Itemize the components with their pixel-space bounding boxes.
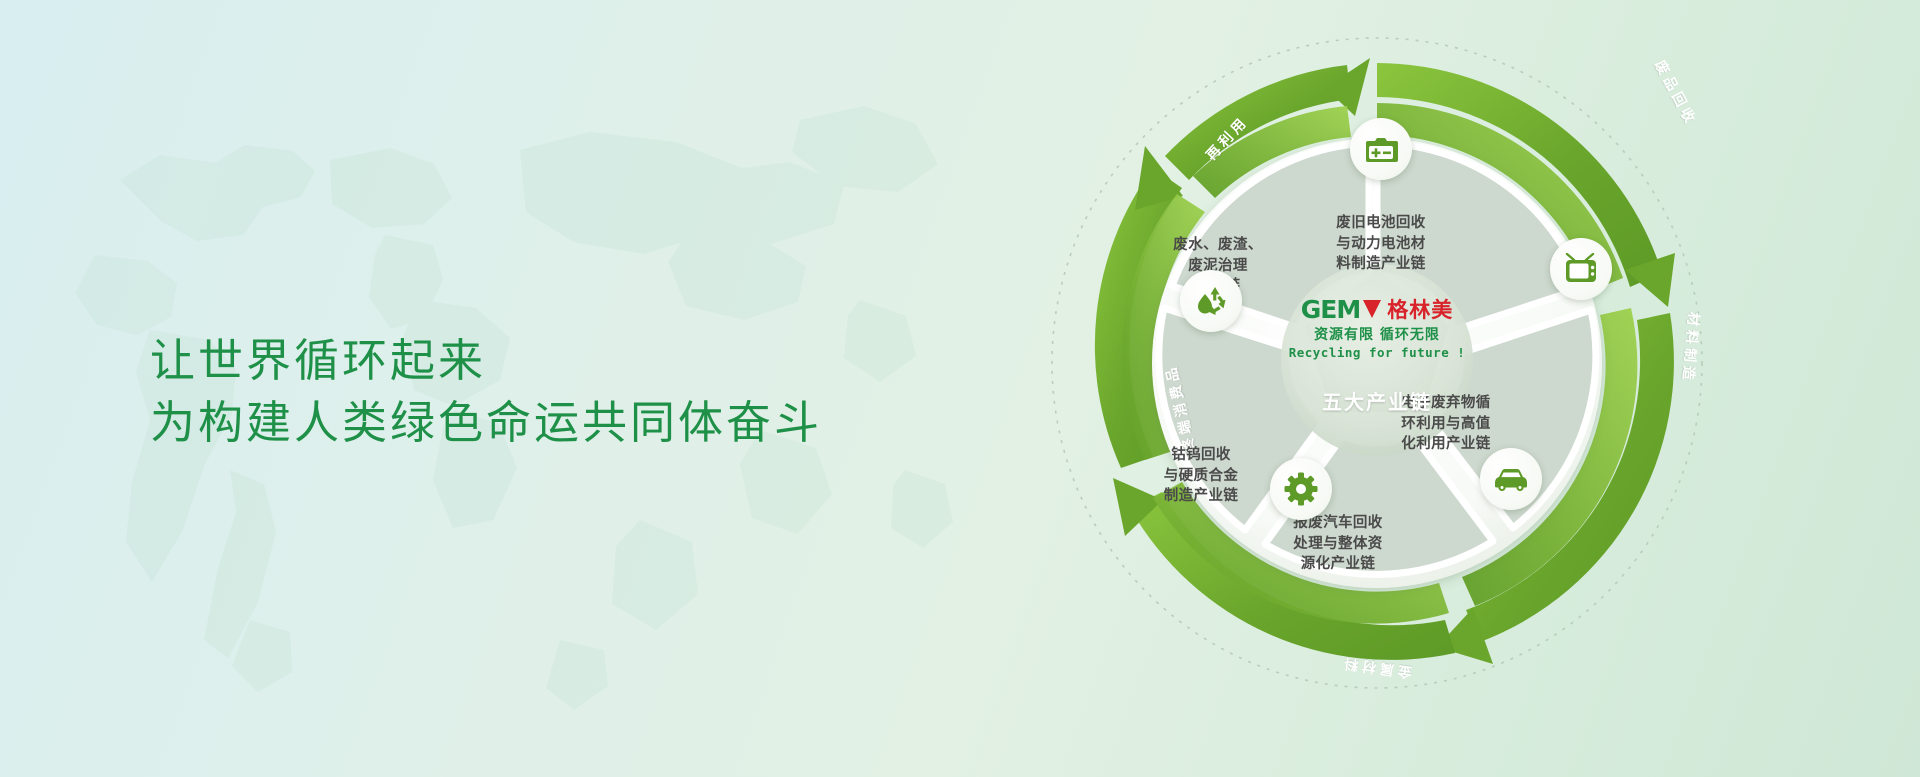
gear-icon: [1284, 472, 1318, 506]
banner-stage: 让世界循环起来 为构建人类绿色命运共同体奋斗: [0, 0, 1920, 777]
headline-line-2: 为构建人类绿色命运共同体奋斗: [150, 392, 822, 454]
five-industry-chain-diagram: 再利用 废品回收 材料制造 金属材料 终端消费品 废旧电池回收 与动力电池材 料…: [1025, 8, 1905, 768]
battery-icon-bubble: [1350, 118, 1412, 180]
headline-block: 让世界循环起来 为构建人类绿色命运共同体奋斗: [150, 330, 822, 454]
television-icon: [1564, 253, 1598, 285]
headline-line-1: 让世界循环起来: [150, 330, 822, 392]
car-icon-bubble: [1480, 448, 1542, 510]
car-icon: [1493, 466, 1529, 492]
battery-icon: [1364, 134, 1398, 164]
television-icon-bubble: [1550, 238, 1612, 300]
recycle-drop-icon: [1193, 284, 1229, 318]
gear-icon-bubble: [1270, 458, 1332, 520]
recycle-drop-icon-bubble: [1180, 270, 1242, 332]
diagram-graphics: [1025, 8, 1905, 768]
